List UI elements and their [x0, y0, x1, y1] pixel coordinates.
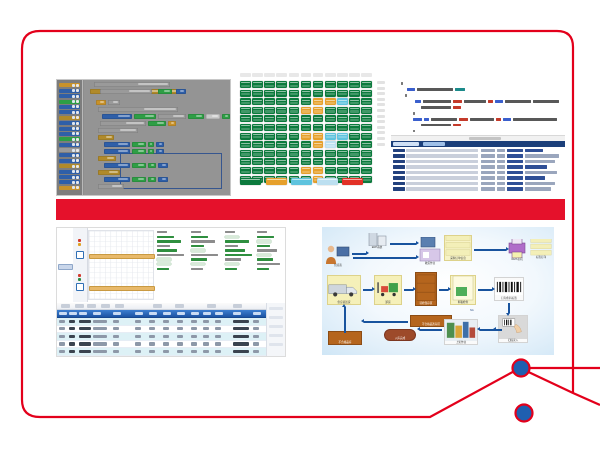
log-token: [507, 187, 523, 190]
matrix-cell[interactable]: [289, 133, 300, 140]
matrix-cell[interactable]: [252, 158, 263, 165]
matrix-cell[interactable]: [337, 150, 348, 157]
matrix-cell[interactable]: [301, 133, 312, 140]
table-column-header[interactable]: [149, 312, 157, 315]
matrix-cell[interactable]: [252, 98, 263, 105]
table-row[interactable]: [57, 318, 285, 326]
table-row[interactable]: [57, 333, 285, 341]
table-row[interactable]: [57, 356, 285, 357]
palette-block[interactable]: [59, 100, 80, 104]
matrix-row-header: [377, 92, 385, 95]
side-action-button[interactable]: [269, 307, 283, 310]
code-block[interactable]: [96, 100, 106, 105]
matrix-cell[interactable]: [264, 81, 275, 88]
table-column-header[interactable]: [135, 312, 143, 315]
flow-node-scan-entry[interactable]: 扫描录入: [498, 315, 528, 343]
table-cell: [69, 342, 75, 345]
code-editor-panel[interactable]: [391, 79, 565, 194]
code-block[interactable]: [148, 177, 156, 182]
matrix-row-header: [377, 143, 385, 146]
code-block[interactable]: [158, 177, 168, 182]
code-block[interactable]: [98, 107, 178, 112]
matrix-cell[interactable]: [349, 115, 360, 122]
code-block[interactable]: [100, 121, 146, 126]
data-table[interactable]: [57, 303, 285, 356]
matrix-cell[interactable]: [289, 167, 300, 174]
code-block[interactable]: [104, 149, 130, 154]
palette-block[interactable]: [59, 148, 80, 152]
side-action-button[interactable]: [269, 334, 283, 337]
palette-block[interactable]: [59, 105, 80, 109]
marker-circle-upper[interactable]: [513, 360, 530, 377]
code-block[interactable]: [132, 177, 146, 182]
matrix-cell[interactable]: [252, 133, 263, 140]
blocks-canvas[interactable]: [84, 80, 230, 195]
table-header-row[interactable]: [57, 310, 285, 318]
matrix-cell[interactable]: [252, 115, 263, 122]
matrix-column-header: [313, 73, 324, 77]
matrix-cell[interactable]: [361, 90, 372, 97]
code-line: [393, 94, 563, 97]
code-block[interactable]: [98, 170, 120, 175]
code-block[interactable]: [168, 121, 176, 126]
matrix-cell[interactable]: [361, 141, 372, 148]
table-row[interactable]: [57, 341, 285, 349]
code-block[interactable]: [148, 121, 166, 126]
code-block[interactable]: [98, 135, 114, 140]
matrix-cell[interactable]: [361, 98, 372, 105]
matrix-cell[interactable]: [337, 115, 348, 122]
log-row[interactable]: [391, 154, 565, 157]
matrix-cell[interactable]: [276, 90, 287, 97]
flow-node-receiving-desk[interactable]: 收货作业: [418, 237, 442, 265]
toolbar-button[interactable]: [153, 304, 162, 307]
gantt-tag[interactable]: [58, 264, 73, 270]
matrix-cell[interactable]: [264, 115, 275, 122]
palette-block[interactable]: [59, 89, 80, 93]
table-column-header[interactable]: [69, 312, 77, 315]
matrix-cell[interactable]: [301, 141, 312, 148]
matrix-cell[interactable]: [252, 141, 263, 148]
code-block[interactable]: [94, 82, 170, 87]
palette-block[interactable]: [59, 186, 80, 190]
blocks-editor-panel[interactable]: [56, 79, 231, 196]
matrix-cell[interactable]: [240, 150, 251, 157]
matrix-cell[interactable]: [349, 107, 360, 114]
matrix-cell[interactable]: [325, 115, 336, 122]
table-column-header[interactable]: [163, 312, 171, 315]
code-block[interactable]: [158, 89, 172, 94]
flow-node-putaway[interactable]: 上架作业: [444, 319, 478, 345]
palette-block[interactable]: [59, 127, 80, 131]
matrix-cell[interactable]: [289, 81, 300, 88]
matrix-cell[interactable]: [349, 81, 360, 88]
flow-node-supplier-delivery[interactable]: 供应商送货: [327, 275, 361, 305]
table-cell: [113, 335, 119, 338]
side-action-button[interactable]: [269, 343, 283, 346]
matrix-cell[interactable]: [361, 124, 372, 131]
matrix-cell[interactable]: [276, 150, 287, 157]
matrix-cell[interactable]: [337, 98, 348, 105]
logistics-flow-panel[interactable]: NG 供应商ERP系统收货作业采购订单信息WMS主机标签打印供应商送货卸货待检暂…: [322, 227, 554, 355]
palette-block[interactable]: [59, 175, 80, 179]
matrix-cell[interactable]: [325, 133, 336, 140]
code-line: [393, 100, 563, 103]
log-token: [497, 171, 505, 174]
matrix-cell[interactable]: [325, 141, 336, 148]
annotation-line: [191, 263, 205, 265]
matrix-cell[interactable]: [264, 150, 275, 157]
log-row[interactable]: [391, 160, 565, 163]
matrix-cell[interactable]: [361, 158, 372, 165]
flow-node-pending-area[interactable]: 待检暂存区: [415, 272, 437, 306]
code-token: [413, 130, 415, 133]
code-block[interactable]: [222, 114, 230, 119]
code-block[interactable]: [132, 149, 146, 154]
matrix-cell[interactable]: [337, 141, 348, 148]
palette-block[interactable]: [59, 170, 80, 174]
code-block[interactable]: [134, 114, 156, 119]
palette-block[interactable]: [59, 94, 80, 98]
matrix-cell[interactable]: [301, 158, 312, 165]
matrix-cell[interactable]: [313, 90, 324, 97]
matrix-cell[interactable]: [264, 133, 275, 140]
matrix-cell[interactable]: [276, 158, 287, 165]
toolbar-button[interactable]: [101, 304, 110, 307]
toolbar-button[interactable]: [233, 304, 242, 307]
code-token: [470, 118, 494, 121]
annotation-line: [191, 268, 203, 270]
table-column-header[interactable]: [203, 312, 211, 315]
matrix-cell[interactable]: [325, 107, 336, 114]
palette-block[interactable]: [59, 137, 80, 141]
code-block[interactable]: [100, 89, 152, 94]
flow-node-host-notes[interactable]: 标签打印: [530, 239, 552, 259]
matrix-cell[interactable]: [313, 98, 324, 105]
palette-block[interactable]: [59, 164, 80, 168]
flow-node-supplier-clerk[interactable]: 供应商: [325, 245, 351, 267]
side-action-button[interactable]: [269, 316, 283, 319]
code-block[interactable]: [132, 142, 146, 147]
log-token: [507, 149, 523, 152]
palette-block[interactable]: [59, 153, 80, 157]
palette-block[interactable]: [59, 110, 80, 114]
flow-node-wms-host[interactable]: WMS主机: [508, 239, 526, 261]
matrix-cell[interactable]: [349, 158, 360, 165]
toolbar-button[interactable]: [87, 304, 96, 307]
log-token: [406, 154, 478, 157]
matrix-cell[interactable]: [240, 167, 251, 174]
code-block[interactable]: [148, 142, 154, 147]
table-row[interactable]: [57, 326, 285, 334]
matrix-cell[interactable]: [289, 115, 300, 122]
matrix-cell[interactable]: [337, 124, 348, 131]
code-block[interactable]: [104, 163, 130, 168]
matrix-cell[interactable]: [349, 133, 360, 140]
matrix-cell[interactable]: [313, 124, 324, 131]
matrix-cell[interactable]: [289, 107, 300, 114]
matrix-cell[interactable]: [337, 90, 348, 97]
palette-block[interactable]: [59, 121, 80, 125]
blocks-palette[interactable]: [57, 80, 83, 195]
matrix-cell[interactable]: [361, 167, 372, 174]
matrix-cell[interactable]: [325, 98, 336, 105]
matrix-cell[interactable]: [313, 81, 324, 88]
flow-node-erp-server[interactable]: ERP系统: [366, 233, 388, 249]
matrix-cell[interactable]: [361, 133, 372, 140]
matrix-cell[interactable]: [361, 107, 372, 114]
matrix-cell[interactable]: [252, 124, 263, 131]
matrix-cell[interactable]: [264, 158, 275, 165]
matrix-cell[interactable]: [337, 133, 348, 140]
matrix-cell[interactable]: [264, 90, 275, 97]
code-block[interactable]: [188, 114, 204, 119]
matrix-cell[interactable]: [289, 141, 300, 148]
matrix-cell[interactable]: [361, 115, 372, 122]
palette-block[interactable]: [59, 159, 80, 163]
code-block[interactable]: [156, 142, 164, 147]
matrix-cell[interactable]: [264, 141, 275, 148]
matrix-cell[interactable]: [264, 98, 275, 105]
matrix-cell[interactable]: [240, 98, 251, 105]
palette-block[interactable]: [59, 83, 80, 87]
matrix-cell[interactable]: [349, 150, 360, 157]
matrix-cell[interactable]: [240, 141, 251, 148]
code-block[interactable]: [158, 163, 168, 168]
code-block[interactable]: [158, 114, 186, 119]
matrix-cell[interactable]: [301, 115, 312, 122]
matrix-cell[interactable]: [361, 81, 372, 88]
matrix-cell[interactable]: [252, 167, 263, 174]
matrix-cell[interactable]: [276, 124, 287, 131]
matrix-cell[interactable]: [240, 90, 251, 97]
matrix-cell[interactable]: [276, 98, 287, 105]
log-token: [497, 160, 505, 163]
table-column-header[interactable]: [177, 312, 185, 315]
table-cell: [59, 335, 65, 338]
palette-block[interactable]: [59, 143, 80, 147]
gantt-node[interactable]: [76, 251, 84, 259]
matrix-row-header: [377, 137, 385, 140]
code-block[interactable]: [104, 177, 130, 182]
matrix-cell[interactable]: [240, 124, 251, 131]
code-token: [415, 100, 421, 103]
log-row[interactable]: [391, 165, 565, 168]
matrix-cell[interactable]: [240, 107, 251, 114]
palette-block[interactable]: [59, 116, 80, 120]
matrix-cell[interactable]: [313, 133, 324, 140]
flow-arrowhead: [413, 287, 416, 291]
matrix-cell[interactable]: [301, 167, 312, 174]
matrix-cell[interactable]: [337, 81, 348, 88]
status-matrix-panel[interactable]: [239, 79, 387, 197]
matrix-cell[interactable]: [276, 81, 287, 88]
matrix-cell[interactable]: [240, 81, 251, 88]
code-block[interactable]: [132, 163, 146, 168]
palette-block[interactable]: [59, 180, 80, 184]
annotation-column: [225, 231, 255, 272]
matrix-cell[interactable]: [349, 167, 360, 174]
matrix-column-header: [240, 73, 251, 77]
matrix-grid[interactable]: [240, 81, 372, 183]
code-block[interactable]: [104, 142, 130, 147]
toolbar-button[interactable]: [175, 304, 184, 307]
code-token: [513, 118, 557, 121]
matrix-cell[interactable]: [240, 115, 251, 122]
matrix-cell[interactable]: [313, 158, 324, 165]
table-column-header[interactable]: [215, 312, 223, 315]
matrix-cell[interactable]: [325, 150, 336, 157]
table-body[interactable]: [57, 318, 285, 357]
matrix-cell[interactable]: [264, 167, 275, 174]
toolbar-button[interactable]: [75, 304, 84, 307]
matrix-cell[interactable]: [276, 115, 287, 122]
table-column-header[interactable]: [79, 312, 87, 315]
code-block[interactable]: [108, 100, 120, 105]
matrix-cell[interactable]: [276, 107, 287, 114]
gantt-node[interactable]: [76, 283, 84, 291]
table-cell: [203, 342, 209, 345]
matrix-cell[interactable]: [264, 107, 275, 114]
code-block[interactable]: [148, 149, 154, 154]
flow-arrow: [390, 243, 416, 245]
matrix-cell[interactable]: [337, 158, 348, 165]
toolbar-button[interactable]: [115, 304, 124, 307]
code-block[interactable]: [156, 149, 164, 154]
table-column-header[interactable]: [253, 312, 261, 315]
flow-node-barcode-label[interactable]: 打印条码标签: [494, 277, 524, 301]
toolbar-button[interactable]: [61, 304, 70, 307]
matrix-cell[interactable]: [289, 124, 300, 131]
code-block[interactable]: [206, 114, 220, 119]
matrix-cell[interactable]: [276, 167, 287, 174]
table-column-header[interactable]: [113, 312, 121, 315]
log-row[interactable]: [391, 187, 565, 190]
flow-node-inbound-done[interactable]: 入库完成: [384, 329, 416, 341]
matrix-cell[interactable]: [313, 167, 324, 174]
matrix-cell[interactable]: [276, 133, 287, 140]
matrix-cell[interactable]: [301, 107, 312, 114]
matrix-cell[interactable]: [276, 141, 287, 148]
code-text-area[interactable]: [391, 79, 565, 135]
matrix-cell[interactable]: [349, 90, 360, 97]
table-row[interactable]: [57, 348, 285, 356]
marker-circle-lower[interactable]: [516, 405, 533, 422]
matrix-cell[interactable]: [252, 90, 263, 97]
flow-node-task-list[interactable]: 采购订单信息: [444, 235, 472, 261]
palette-block[interactable]: [59, 132, 80, 136]
log-row[interactable]: [391, 171, 565, 174]
matrix-cell[interactable]: [240, 158, 251, 165]
code-block[interactable]: [148, 163, 156, 168]
matrix-cell[interactable]: [349, 98, 360, 105]
table-side-buttons[interactable]: [266, 303, 285, 356]
table-column-header[interactable]: [233, 312, 241, 315]
matrix-cell[interactable]: [325, 124, 336, 131]
log-token: [481, 182, 495, 185]
matrix-cell[interactable]: [289, 98, 300, 105]
matrix-column-header: [289, 73, 300, 77]
matrix-cell[interactable]: [301, 81, 312, 88]
matrix-cell[interactable]: [313, 141, 324, 148]
log-console-rows[interactable]: [391, 148, 565, 194]
flow-node-unloading[interactable]: 卸货: [374, 275, 402, 305]
log-row[interactable]: [391, 182, 565, 185]
gantt-bar[interactable]: [89, 286, 155, 291]
table-cell: [191, 327, 197, 330]
matrix-cell[interactable]: [252, 107, 263, 114]
table-column-header[interactable]: [59, 312, 67, 315]
table-cell: [177, 320, 183, 323]
code-block[interactable]: [102, 114, 132, 119]
matrix-cell[interactable]: [361, 176, 372, 183]
code-block[interactable]: [176, 89, 186, 94]
matrix-cell[interactable]: [349, 141, 360, 148]
matrix-cell[interactable]: [349, 124, 360, 131]
annotation-line: [157, 231, 167, 233]
table-toolbar[interactable]: [57, 303, 285, 310]
code-block[interactable]: [98, 156, 116, 161]
matrix-cell[interactable]: [313, 107, 324, 114]
table-column-header[interactable]: [191, 312, 199, 315]
matrix-cell[interactable]: [325, 90, 336, 97]
matrix-cell[interactable]: [301, 150, 312, 157]
log-token: [406, 171, 478, 174]
log-row[interactable]: [391, 149, 565, 152]
table-cell: [233, 350, 249, 353]
matrix-cell[interactable]: [289, 158, 300, 165]
matrix-cell[interactable]: [301, 90, 312, 97]
code-block[interactable]: [98, 128, 138, 133]
matrix-cell[interactable]: [252, 150, 263, 157]
matrix-cell[interactable]: [313, 115, 324, 122]
matrix-cell[interactable]: [313, 150, 324, 157]
table-cell: [253, 320, 259, 323]
matrix-cell[interactable]: [361, 150, 372, 157]
shelf-photo-icon: [445, 320, 477, 341]
table-cell: [177, 335, 183, 338]
flow-node-reject-store[interactable]: 不合格品库: [328, 331, 362, 345]
matrix-cell[interactable]: [301, 124, 312, 131]
matrix-cell[interactable]: [240, 133, 251, 140]
matrix-cell[interactable]: [325, 81, 336, 88]
matrix-cell[interactable]: [325, 167, 336, 174]
table-cell: [59, 350, 65, 353]
gantt-bar[interactable]: [89, 254, 155, 259]
matrix-cell[interactable]: [301, 98, 312, 105]
log-row[interactable]: [391, 176, 565, 179]
flow-node-quality-check[interactable]: 料箱检查: [450, 275, 476, 305]
side-action-button[interactable]: [269, 325, 283, 328]
matrix-cell[interactable]: [337, 107, 348, 114]
flow-node-label: 入库完成: [395, 337, 405, 340]
code-token: [413, 118, 422, 121]
matrix-column-header: [301, 73, 312, 77]
gantt-chart-area[interactable]: [57, 228, 285, 302]
table-column-header[interactable]: [93, 312, 101, 315]
flow-node-label: 上架作业: [456, 341, 466, 344]
matrix-cell[interactable]: [337, 167, 348, 174]
matrix-cell[interactable]: [264, 124, 275, 131]
matrix-cell[interactable]: [325, 158, 336, 165]
code-block[interactable]: [98, 184, 124, 189]
matrix-cell[interactable]: [252, 81, 263, 88]
toolbar-button[interactable]: [207, 304, 216, 307]
matrix-cell[interactable]: [289, 150, 300, 157]
schedule-sheet-panel[interactable]: [56, 227, 286, 357]
table-cell: [149, 350, 155, 353]
matrix-cell[interactable]: [289, 90, 300, 97]
